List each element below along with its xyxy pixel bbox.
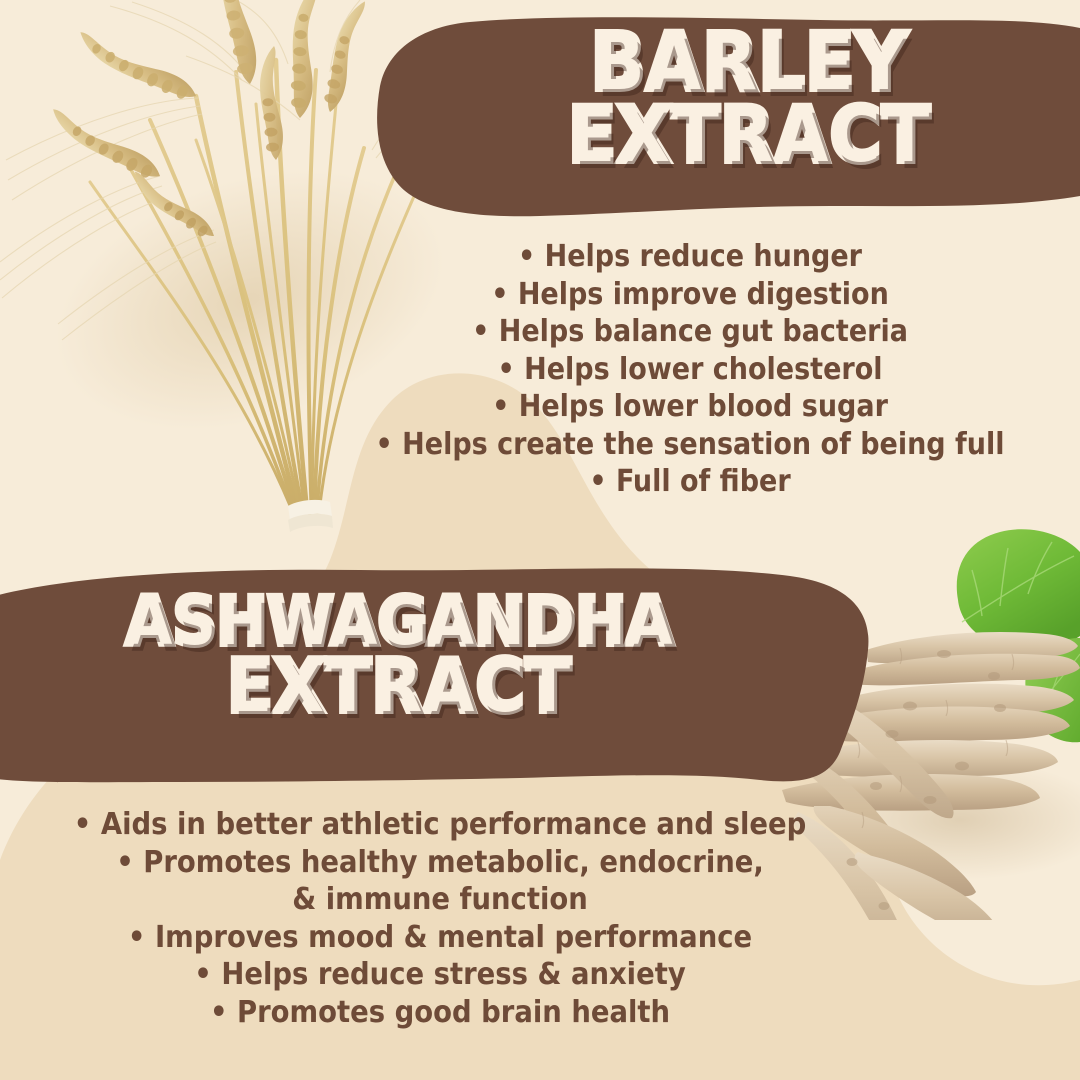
poster-canvas: BARLEY EXTRACT • Helps reduce hunger • H… bbox=[0, 0, 1080, 1080]
list-item: • Improves mood & mental performance bbox=[0, 919, 880, 957]
list-item: • Promotes healthy metabolic, endocrine, bbox=[0, 844, 880, 882]
list-item: • Helps reduce stress & anxiety bbox=[0, 956, 880, 994]
list-item: • Promotes good brain health bbox=[0, 994, 880, 1032]
ashwagandha-benefits-list: • Aids in better athletic performance an… bbox=[0, 806, 880, 1031]
ashwagandha-title-line-2: EXTRACT bbox=[30, 653, 770, 719]
ashwagandha-title: ASHWAGANDHA EXTRACT bbox=[30, 592, 770, 719]
list-item: • Aids in better athletic performance an… bbox=[0, 806, 880, 844]
list-item: & immune function bbox=[0, 881, 880, 919]
